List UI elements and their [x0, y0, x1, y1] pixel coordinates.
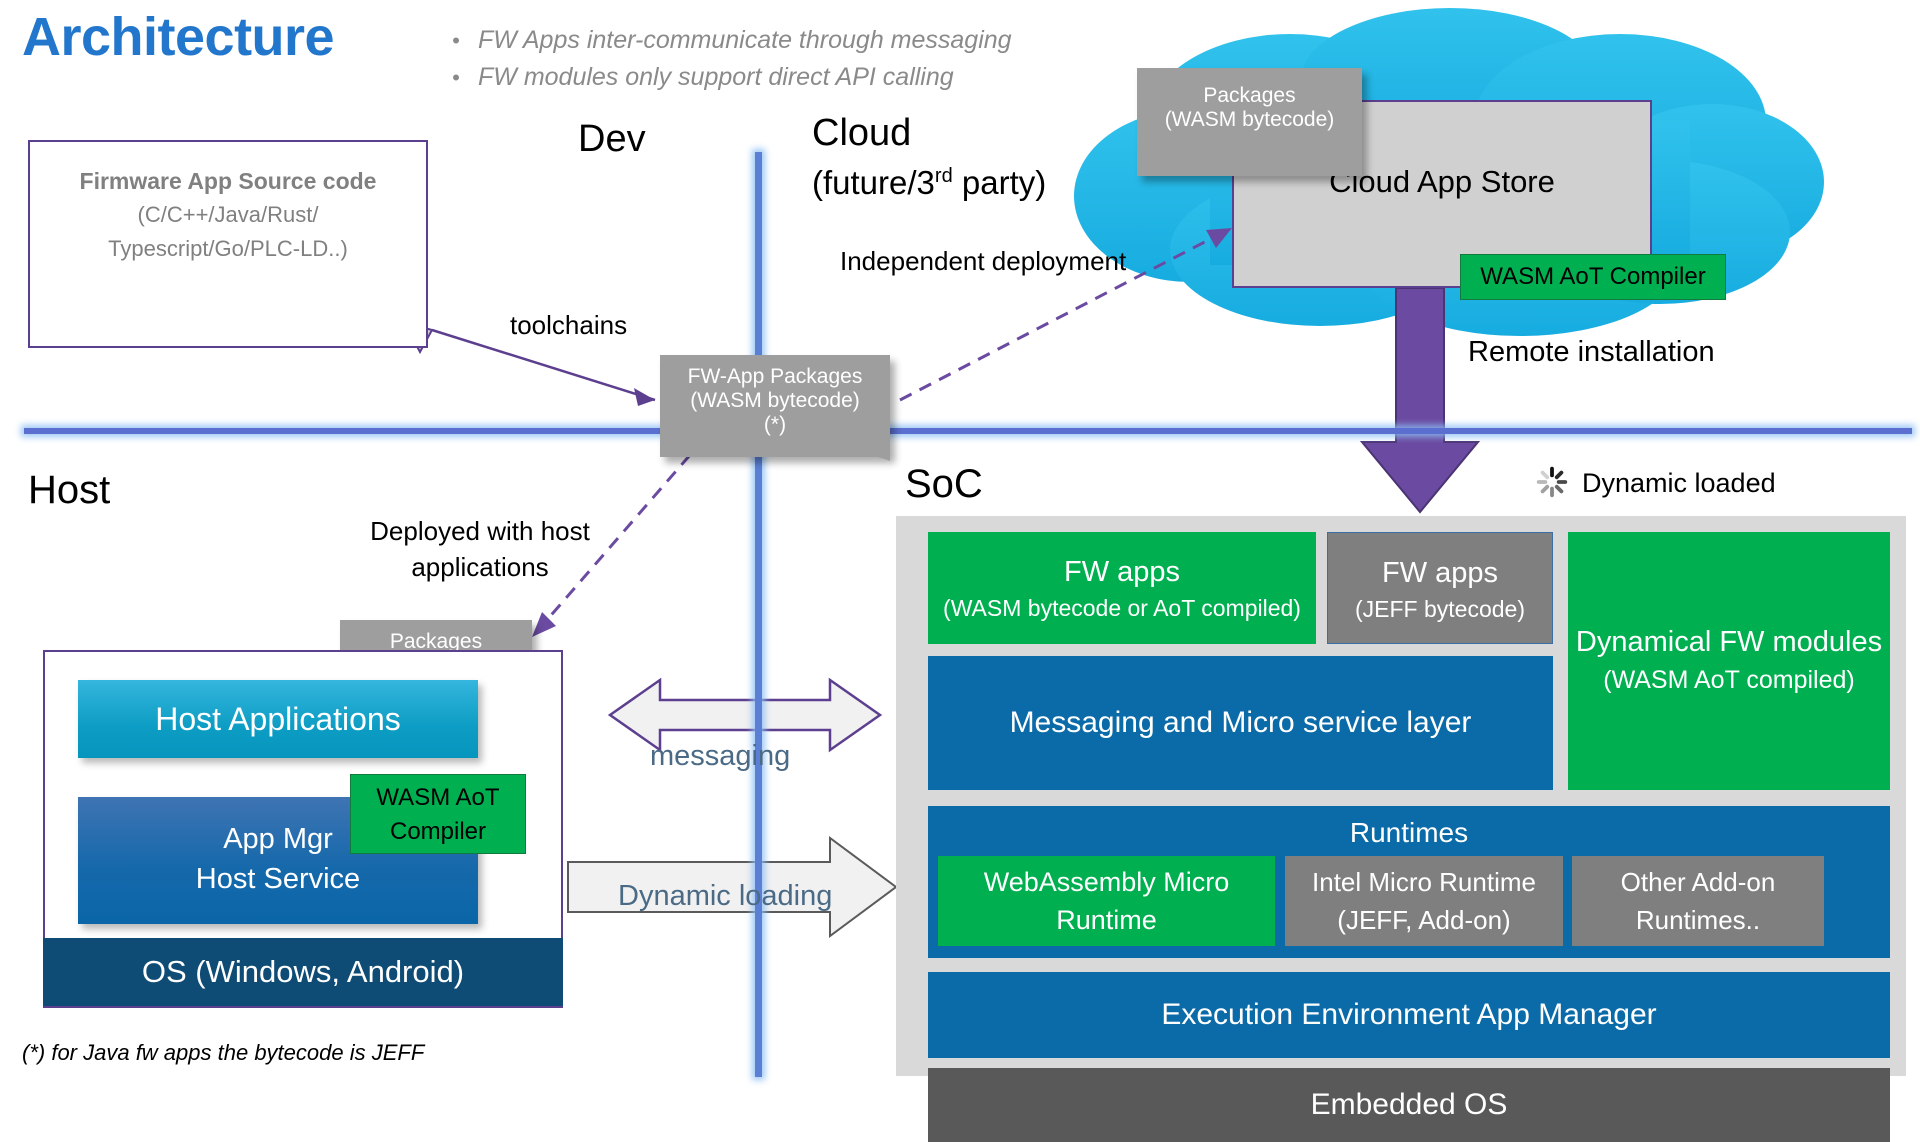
callout-cloud-packages: Packages (WASM bytecode)	[1137, 68, 1362, 176]
dyn-modules-line-1: Dynamical FW modules	[1568, 622, 1890, 662]
soc-fw-apps-wasm-box: FW apps (WASM bytecode or AoT compiled)	[928, 532, 1316, 644]
label-deployed-with-host: Deployed with host applications	[360, 513, 600, 585]
soc-webassembly-micro-runtime-box: WebAssembly Micro Runtime	[938, 856, 1275, 946]
rt-intel-line-1: Intel Micro Runtime	[1285, 863, 1563, 901]
callout-line-1: Packages	[1137, 84, 1362, 108]
host-os-box: OS (Windows, Android)	[43, 938, 563, 1006]
soc-messaging-micro-service-layer-box: Messaging and Micro service layer	[928, 656, 1553, 790]
fw-apps-jeff-line-1: FW apps	[1328, 553, 1552, 593]
list-item: • FW modules only support direct API cal…	[452, 59, 1152, 96]
rt-other-line-1: Other Add-on	[1572, 863, 1824, 901]
rt-wasm-line-2: Runtime	[938, 901, 1275, 939]
bullet-text: FW Apps inter-communicate through messag…	[478, 22, 1012, 59]
label-messaging: messaging	[650, 740, 790, 773]
soc-other-addon-runtimes-box: Other Add-on Runtimes..	[1572, 856, 1824, 946]
callout-line-2: (WASM bytecode)	[660, 389, 890, 413]
label-toolchains: toolchains	[510, 310, 627, 341]
deployed-line-2: applications	[360, 549, 600, 585]
legend-dynamic-loaded: Dynamic loaded	[1540, 468, 1776, 499]
vertical-divider	[755, 152, 762, 1077]
aot-line-1: WASM AoT	[351, 781, 525, 815]
callout-line-1: FW-App Packages	[660, 365, 890, 389]
architecture-slide: Architecture • FW Apps inter-communicate…	[0, 0, 1920, 1080]
rt-intel-line-2: (JEFF, Add-on)	[1285, 901, 1563, 939]
source-box-line2: (C/C++/Java/Rust/	[30, 198, 426, 232]
callout-line-2: (WASM bytecode)	[1137, 108, 1362, 132]
soc-embedded-os-box: Embedded OS	[928, 1068, 1890, 1142]
host-wasm-aot-compiler-box: WASM AoT Compiler	[350, 774, 526, 854]
callout-fw-app-packages: FW-App Packages (WASM bytecode) (*)	[660, 355, 890, 457]
legend-label: Dynamic loaded	[1582, 468, 1776, 499]
bullet-text: FW modules only support direct API calli…	[478, 59, 954, 96]
footnote: (*) for Java fw apps the bytecode is JEF…	[22, 1040, 424, 1066]
source-box-line3: Typescript/Go/PLC-LD..)	[30, 232, 426, 266]
dyn-modules-line-2: (WASM AoT compiled)	[1568, 662, 1890, 698]
aot-line-2: Compiler	[351, 815, 525, 849]
fw-apps-jeff-line-2: (JEFF bytecode)	[1328, 593, 1552, 625]
section-label-cloud-main: Cloud	[812, 112, 1046, 155]
host-applications-box: Host Applications	[78, 680, 478, 758]
section-label-soc: SoC	[905, 462, 983, 507]
page-title: Architecture	[22, 6, 334, 68]
soc-intel-micro-runtime-box: Intel Micro Runtime (JEFF, Add-on)	[1285, 856, 1563, 946]
section-label-cloud: Cloud (future/3rd party)	[812, 112, 1046, 204]
rt-other-line-2: Runtimes..	[1572, 901, 1824, 939]
horizontal-divider	[24, 428, 1912, 434]
deployed-line-1: Deployed with host	[360, 513, 600, 549]
bullet-dot-icon: •	[452, 22, 478, 59]
bullet-list: • FW Apps inter-communicate through mess…	[452, 22, 1152, 96]
source-box-title: Firmware App Source code	[30, 164, 426, 198]
rt-wasm-line-1: WebAssembly Micro	[938, 863, 1275, 901]
runtimes-header: Runtimes	[928, 806, 1890, 854]
cloud-wasm-aot-compiler-box: WASM AoT Compiler	[1460, 254, 1726, 300]
soc-fw-apps-jeff-box: FW apps (JEFF bytecode)	[1327, 532, 1553, 644]
label-independent-deployment: Independent deployment	[840, 246, 1126, 277]
section-label-dev: Dev	[578, 118, 646, 161]
callout-wave-bottom	[1137, 160, 1362, 182]
fw-apps-wasm-line-1: FW apps	[928, 552, 1316, 592]
section-label-cloud-sub: (future/3rd party)	[812, 155, 1046, 204]
bullet-dot-icon: •	[452, 59, 478, 96]
label-remote-installation: Remote installation	[1468, 336, 1715, 369]
firmware-source-code-box: Firmware App Source code (C/C++/Java/Rus…	[28, 140, 428, 348]
soc-dynamical-fw-modules-box: Dynamical FW modules (WASM AoT compiled)	[1568, 532, 1890, 790]
list-item: • FW Apps inter-communicate through mess…	[452, 22, 1152, 59]
soc-execution-environment-app-manager-box: Execution Environment App Manager	[928, 972, 1890, 1058]
section-label-host: Host	[28, 468, 110, 513]
callout-wave-bottom	[660, 447, 890, 469]
app-mgr-line-2: Host Service	[78, 859, 478, 899]
callout-line-3: (*)	[660, 413, 890, 437]
label-dynamic-loading: Dynamic loading	[618, 880, 832, 913]
fw-apps-wasm-line-2: (WASM bytecode or AoT compiled)	[928, 592, 1316, 624]
